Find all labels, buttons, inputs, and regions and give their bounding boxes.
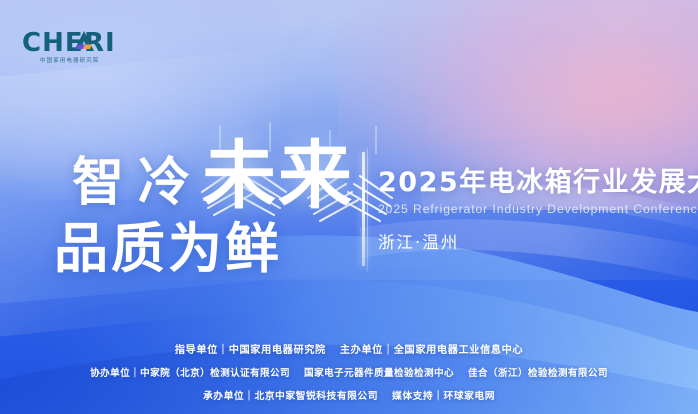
credit-role: 指导单位 [175, 345, 218, 356]
credit-separator: ｜ [218, 345, 229, 356]
conference-location: 浙江·温州 [378, 229, 696, 253]
credit-separator: ｜ [244, 391, 254, 402]
credit-org: 中国家用电器研究院 [229, 345, 326, 356]
conference-title-en: 2025 Refrigerator Industry Development C… [378, 202, 696, 216]
slogan-block: 智 冷 未来 品质为鲜 [54, 138, 354, 270]
credit-org: 国家电子元器件质量检验检测中心 [304, 368, 454, 379]
svg-text:CHE: CHE [22, 28, 84, 58]
credit-separator: ｜ [433, 391, 443, 402]
credit-separator: ｜ [383, 345, 394, 356]
cheari-logo: CHE RI 中国家用电器研究院 [22, 26, 152, 68]
credit-org: 佳合（浙江）检验检测有限公司 [468, 368, 608, 379]
credit-role: 协办单位 [90, 368, 130, 379]
cheari-logo-subtitle: 中国家用电器研究院 [40, 56, 99, 64]
vertical-divider-secondary [367, 148, 368, 272]
credit-role: 承办单位 [203, 391, 244, 402]
credit-separator: ｜ [130, 368, 140, 379]
slogan-line-2: 品质为鲜 [54, 204, 354, 266]
cheari-wordmark-icon: CHE RI [22, 26, 152, 60]
conference-banner: CHE RI 中国家用电器研究院 智 [0, 0, 698, 414]
slogan-line-1: 智 冷 未来 [54, 138, 354, 196]
credit-role: 媒体支持 [392, 391, 433, 402]
credit-org: 中家院（北京）检测认证有限公司 [140, 368, 290, 379]
conference-title-block: 2025年电冰箱行业发展大会 2025 Refrigerator Industr… [378, 168, 696, 253]
credits-line-3: 承办单位｜北京中家智锐科技有限公司媒体支持｜环球家电网 [0, 388, 698, 402]
conference-title-cn: 2025年电冰箱行业发展大会 [378, 168, 696, 198]
credit-org: 北京中家智锐科技有限公司 [254, 391, 378, 402]
slogan-text-pinzhiweixian: 品质为鲜 [54, 204, 282, 283]
credits-block: 指导单位｜中国家用电器研究院主办单位｜全国家用电器工业信息中心 协办单位｜中家院… [0, 341, 698, 402]
credits-line-1: 指导单位｜中国家用电器研究院主办单位｜全国家用电器工业信息中心 [0, 341, 698, 356]
credits-line-2: 协办单位｜中家院（北京）检测认证有限公司国家电子元器件质量检验检测中心佳合（浙江… [0, 365, 698, 379]
vertical-divider [362, 152, 365, 266]
credit-role: 主办单位 [340, 345, 383, 356]
credit-org: 环球家电网 [444, 391, 495, 402]
credit-org: 全国家用电器工业信息中心 [394, 345, 523, 356]
